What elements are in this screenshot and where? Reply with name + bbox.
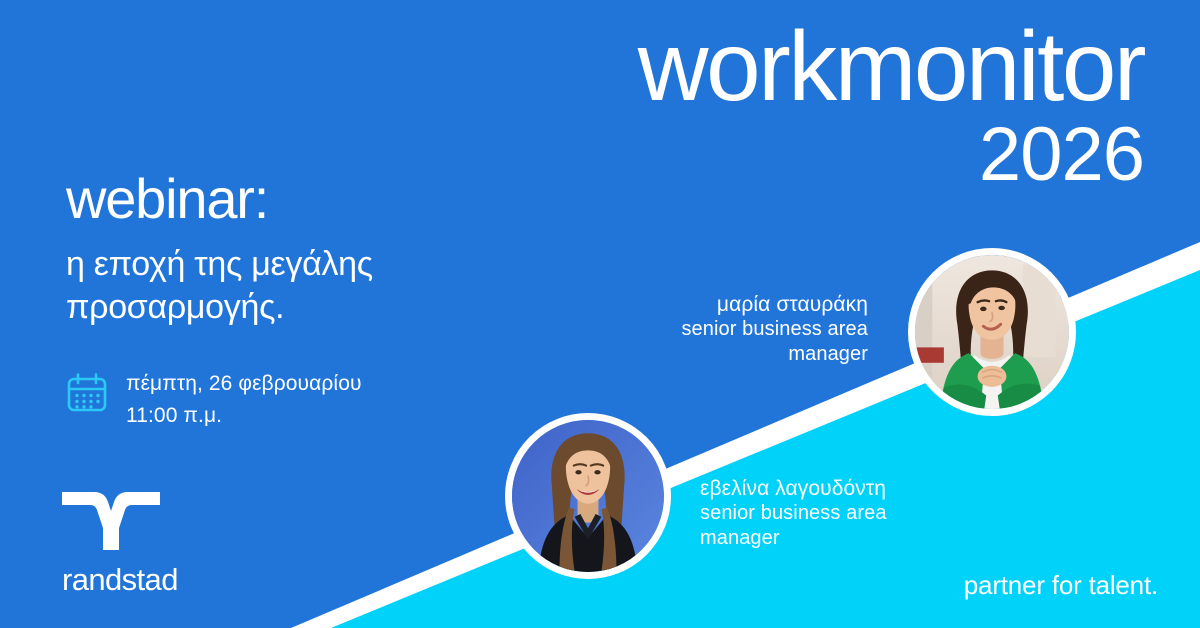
speaker-role-line1: senior business area (578, 317, 868, 341)
campaign-title: workmonitor (638, 18, 1144, 114)
speaker-caption-maria: μαρία σταυράκη senior business area mana… (578, 292, 868, 366)
randstad-logo-icon (62, 492, 160, 550)
schedule-text: πέμπτη, 26 φεβρουαρίου 11:00 π.μ. (126, 368, 362, 431)
calendar-icon (66, 372, 108, 414)
brand-tagline: partner for talent. (964, 572, 1158, 598)
speaker-photo-maria (908, 248, 1076, 416)
campaign-headline: workmonitor 2026 (638, 18, 1144, 194)
webinar-kicker: webinar: (66, 170, 486, 229)
speaker-photo-evelina (505, 413, 671, 579)
campaign-year: 2026 (638, 116, 1144, 194)
speaker-name: εβελίνα λαγουδόντη (700, 476, 1000, 501)
webinar-date: πέμπτη, 26 φεβρουαρίου (126, 372, 362, 395)
brand-wordmark: randstad (62, 564, 178, 595)
webinar-schedule: πέμπτη, 26 φεβρουαρίου 11:00 π.μ. (66, 368, 362, 431)
brand-logo: randstad (62, 492, 178, 595)
speaker-role-line2: manager (700, 526, 1000, 550)
webinar-subtitle: η εποχή της μεγάλης προσαρμογής. (66, 243, 486, 330)
webinar-time: 11:00 π.μ. (126, 404, 222, 427)
webinar-heading-block: webinar: η εποχή της μεγάλης προσαρμογής… (66, 170, 486, 330)
speaker-role-line2: manager (578, 342, 868, 366)
speaker-name: μαρία σταυράκη (578, 292, 868, 317)
webinar-promo-banner: workmonitor 2026 webinar: η εποχή της με… (0, 0, 1200, 628)
speaker-role-line1: senior business area (700, 501, 1000, 525)
speaker-caption-evelina: εβελίνα λαγουδόντη senior business area … (700, 476, 1000, 550)
